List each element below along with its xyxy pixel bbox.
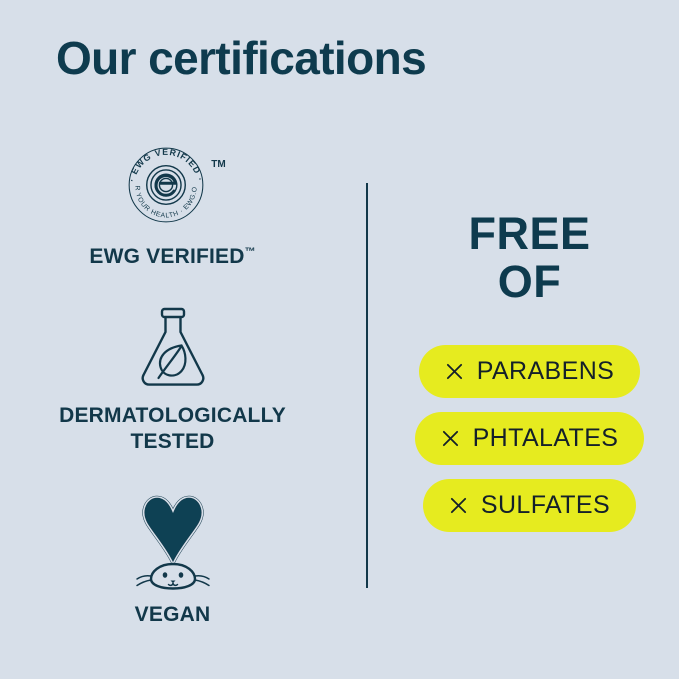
x-mark-icon	[449, 496, 468, 515]
vertical-divider	[366, 183, 368, 588]
certification-item-ewg-verified: · EWG VERIFIED · · FOR YOUR HEALTH · EWG…	[0, 138, 345, 270]
free-of-pill-sulfates[interactable]: SULFATES	[423, 479, 636, 532]
free-of-pill-parabens[interactable]: PARABENS	[419, 345, 641, 398]
ewg-seal-trademark: TM	[211, 159, 225, 170]
flask-with-leaf-icon	[134, 305, 212, 391]
bunny-heart-ears-icon	[121, 490, 225, 590]
free-of-title-line2: OF	[380, 258, 679, 306]
svg-text:· EWG VERIFIED ·: · EWG VERIFIED ·	[127, 147, 206, 183]
bunny-icon-container	[0, 490, 345, 590]
free-of-pill-label-sulfates: SULFATES	[481, 491, 610, 520]
free-of-pill-list: PARABENS PHTALATES SULFATES	[380, 345, 679, 532]
x-mark-icon	[445, 362, 464, 381]
certification-label-ewg-verified: EWG VERIFIED™	[0, 244, 345, 270]
derma-label-line2: TESTED	[0, 429, 345, 455]
certification-item-vegan: VEGAN	[0, 490, 345, 628]
free-of-column: FREE OF PARABENS PHTALATES SULFATE	[380, 200, 679, 600]
page-title: Our certifications	[56, 33, 426, 84]
ewg-verified-text: EWG VERIFIED	[89, 245, 244, 268]
free-of-pill-label-parabens: PARABENS	[477, 357, 615, 386]
ewg-trademark-symbol: ™	[245, 246, 256, 258]
flask-icon-container	[0, 305, 345, 391]
certification-label-dermatologically-tested: DERMATOLOGICALLY TESTED	[0, 403, 345, 454]
free-of-title-line1: FREE	[380, 210, 679, 258]
certifications-poster: Our certifications	[0, 0, 679, 679]
x-mark-icon	[441, 429, 460, 448]
certifications-column: · EWG VERIFIED · · FOR YOUR HEALTH · EWG…	[0, 130, 345, 660]
free-of-pill-phtalates[interactable]: PHTALATES	[415, 412, 645, 465]
derma-label-line1: DERMATOLOGICALLY	[0, 403, 345, 429]
ewg-icon-container: · EWG VERIFIED · · FOR YOUR HEALTH · EWG…	[0, 138, 345, 232]
free-of-title: FREE OF	[380, 200, 679, 305]
ewg-verified-seal-icon: · EWG VERIFIED · · FOR YOUR HEALTH · EWG…	[119, 138, 213, 232]
certification-item-dermatologically-tested: DERMATOLOGICALLY TESTED	[0, 305, 345, 454]
certification-label-vegan: VEGAN	[0, 602, 345, 628]
free-of-pill-label-phtalates: PHTALATES	[473, 424, 619, 453]
ewg-seal-top-text: · EWG VERIFIED ·	[127, 147, 206, 183]
